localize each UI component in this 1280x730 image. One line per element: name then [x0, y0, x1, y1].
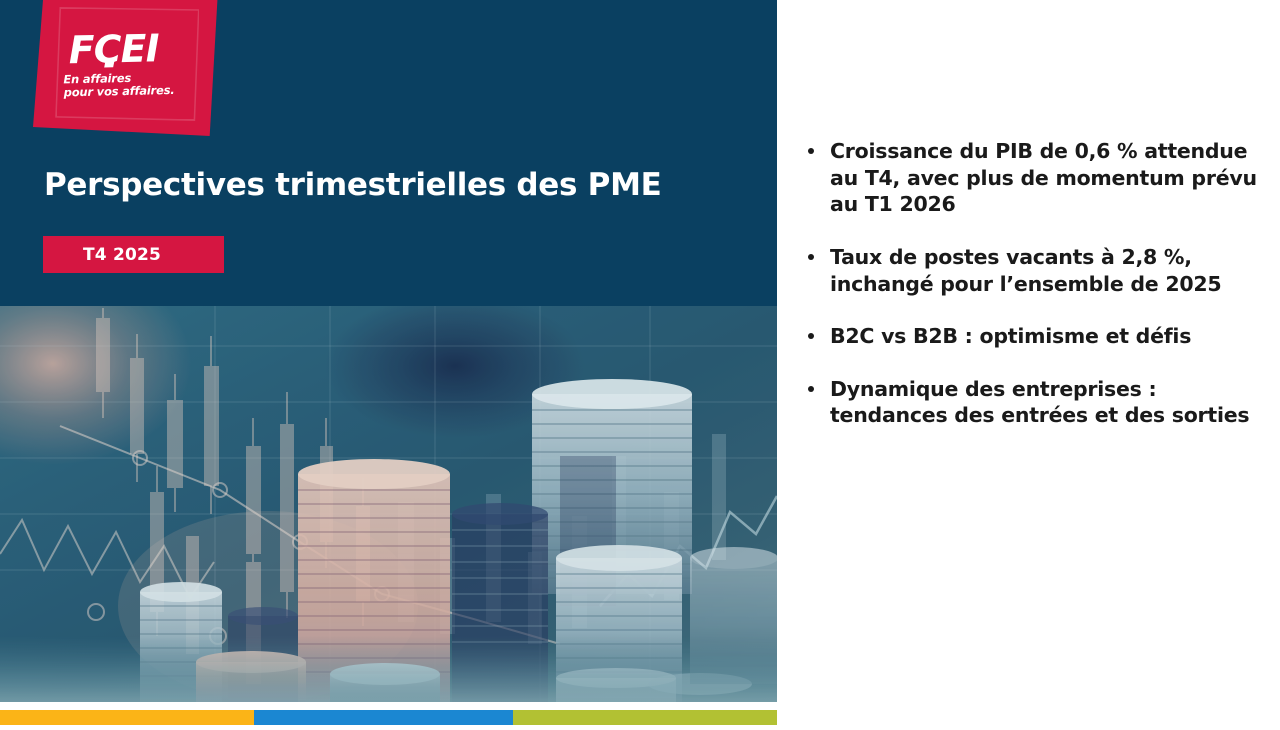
list-item-text: Taux de postes vacants à 2,8 %, inchangé…: [830, 245, 1221, 296]
accent-segment-green: [513, 710, 777, 725]
logo-text-group: FCEI En affaires pour vos affaires.: [31, 0, 219, 138]
slide-left-panel: FCEI En affaires pour vos affaires. Pers…: [0, 0, 777, 730]
quarter-badge-label: T4 2025: [83, 245, 161, 265]
bullet-dot-icon: [808, 333, 814, 339]
logo-speech-bubble-icon: [104, 58, 115, 67]
page-title: Perspectives trimestrielles des PME: [44, 168, 744, 202]
accent-segment-yellow: [0, 710, 254, 725]
key-points-list: Croissance du PIB de 0,6 % attendue au T…: [800, 138, 1278, 455]
list-item: Taux de postes vacants à 2,8 %, inchangé…: [800, 244, 1278, 297]
bullet-dot-icon: [808, 386, 814, 392]
accent-segment-blue: [254, 710, 513, 725]
list-item-text: Croissance du PIB de 0,6 % attendue au T…: [830, 139, 1257, 216]
list-item-text: B2C vs B2B : optimisme et défis: [830, 324, 1191, 348]
bullet-dot-icon: [808, 254, 814, 260]
bullet-dot-icon: [808, 148, 814, 154]
logo-tagline-text: En affaires pour vos affaires.: [63, 71, 174, 99]
quarter-badge: T4 2025: [43, 236, 224, 273]
list-item-text: Dynamique des entreprises : tendances de…: [830, 377, 1249, 428]
accent-color-bar: [0, 710, 777, 725]
slide-bullets-panel: Croissance du PIB de 0,6 % attendue au T…: [800, 0, 1280, 730]
coins-and-stock-chart-photo: [0, 306, 777, 702]
list-item: Croissance du PIB de 0,6 % attendue au T…: [800, 138, 1278, 218]
fcei-logo: FCEI En affaires pour vos affaires.: [33, 0, 218, 136]
list-item: Dynamique des entreprises : tendances de…: [800, 376, 1278, 429]
list-item: B2C vs B2B : optimisme et défis: [800, 323, 1278, 350]
